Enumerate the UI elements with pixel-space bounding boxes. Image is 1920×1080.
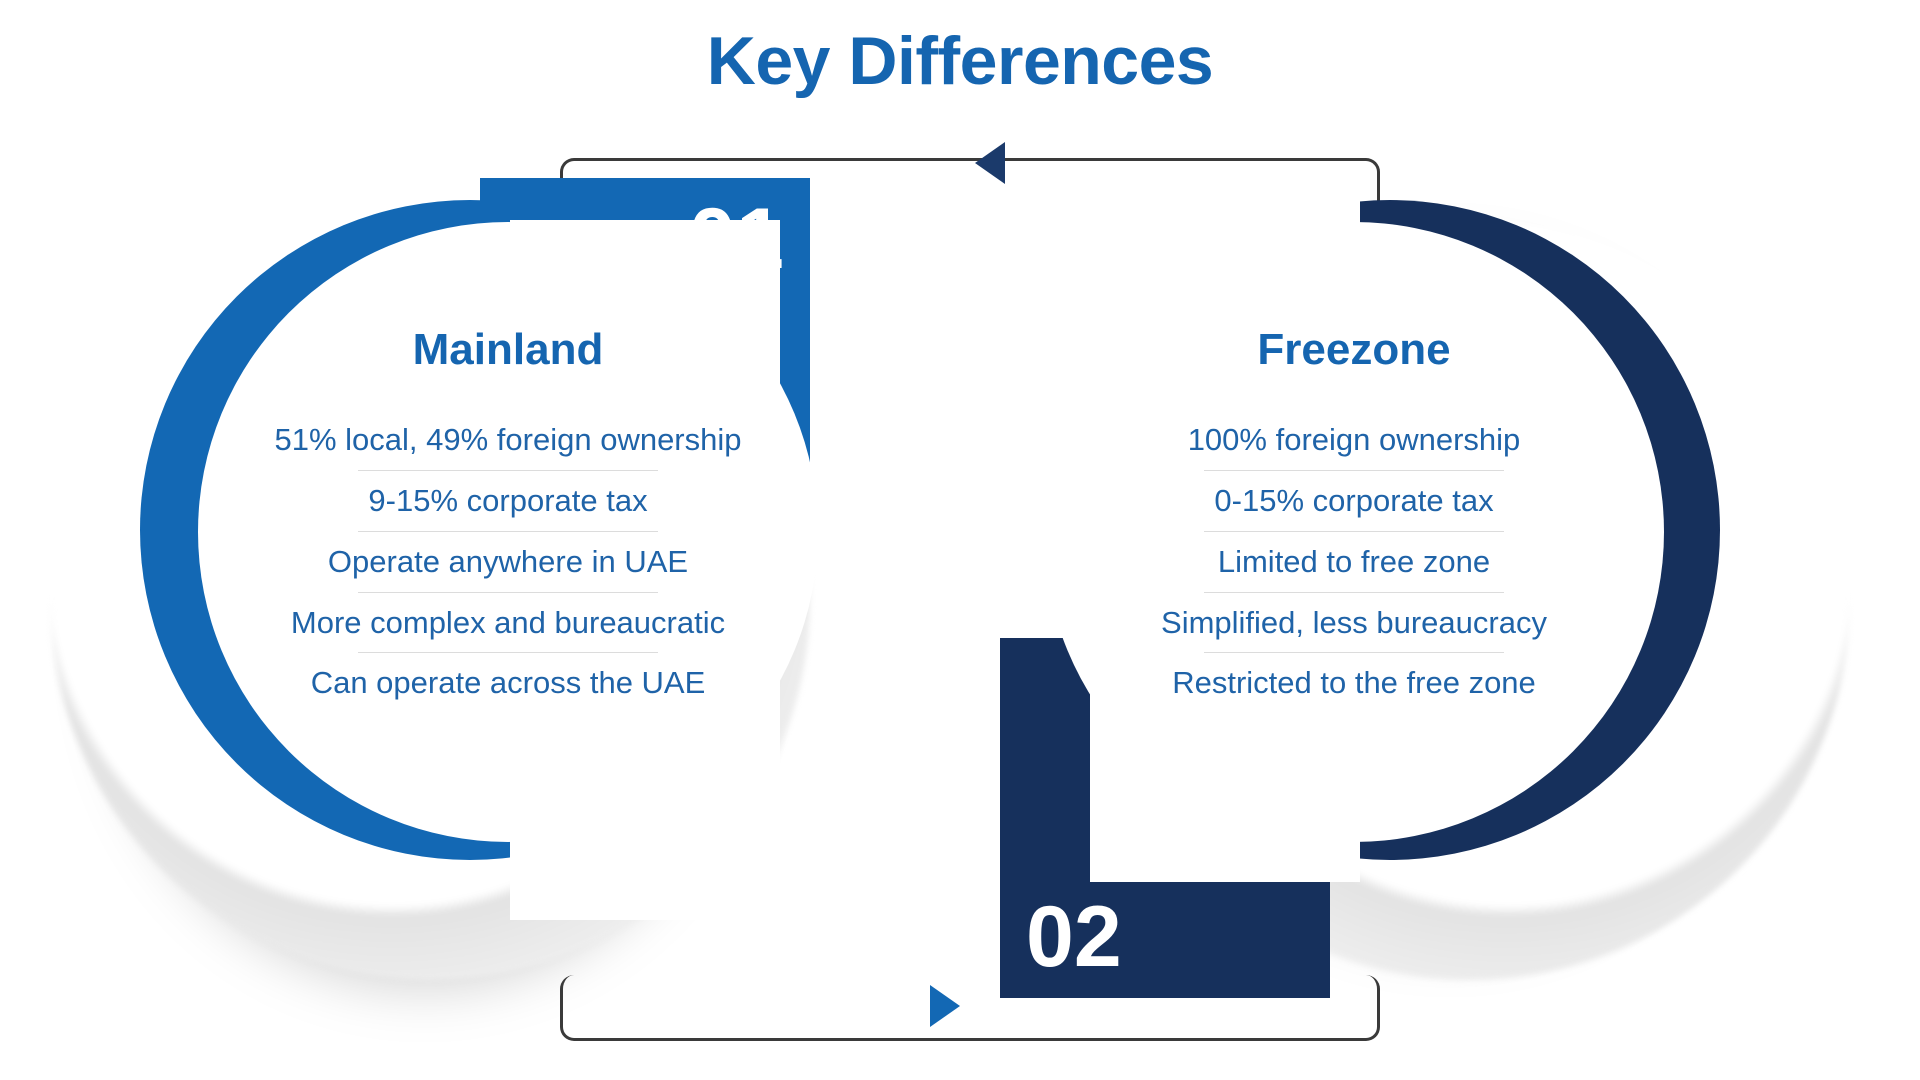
list-item: 100% foreign ownership: [1044, 410, 1664, 470]
list-item: Simplified, less bureaucracy: [1044, 593, 1664, 653]
feature-list-mainland: 51% local, 49% foreign ownership 9-15% c…: [198, 410, 818, 713]
card-title-freezone: Freezone: [1257, 328, 1450, 372]
list-item: 9-15% corporate tax: [198, 471, 818, 531]
card-content-left: Mainland 51% local, 49% foreign ownershi…: [198, 222, 818, 842]
list-item: 0-15% corporate tax: [1044, 471, 1664, 531]
card-mainland[interactable]: 01 Mainland 51% local, 49% foreign owner…: [160, 200, 860, 1020]
feature-list-freezone: 100% foreign ownership 0-15% corporate t…: [1044, 410, 1664, 713]
triangle-left-icon: [975, 142, 1005, 184]
card-freezone[interactable]: 02 Freezone 100% foreign ownership 0-15%…: [1000, 200, 1700, 1020]
page-title: Key Differences: [0, 24, 1920, 99]
card-content-right: Freezone 100% foreign ownership 0-15% co…: [1044, 222, 1664, 842]
list-item: More complex and bureaucratic: [198, 593, 818, 653]
card-index-number-02: 02: [1026, 894, 1122, 980]
card-title-mainland: Mainland: [413, 328, 604, 372]
list-item: 51% local, 49% foreign ownership: [198, 410, 818, 470]
triangle-right-icon: [930, 985, 960, 1027]
list-item: Limited to free zone: [1044, 532, 1664, 592]
list-item: Can operate across the UAE: [198, 653, 818, 713]
infographic-canvas: Key Differences 01 Mainland 51% local, 4…: [0, 0, 1920, 1080]
list-item: Operate anywhere in UAE: [198, 532, 818, 592]
list-item: Restricted to the free zone: [1044, 653, 1664, 713]
